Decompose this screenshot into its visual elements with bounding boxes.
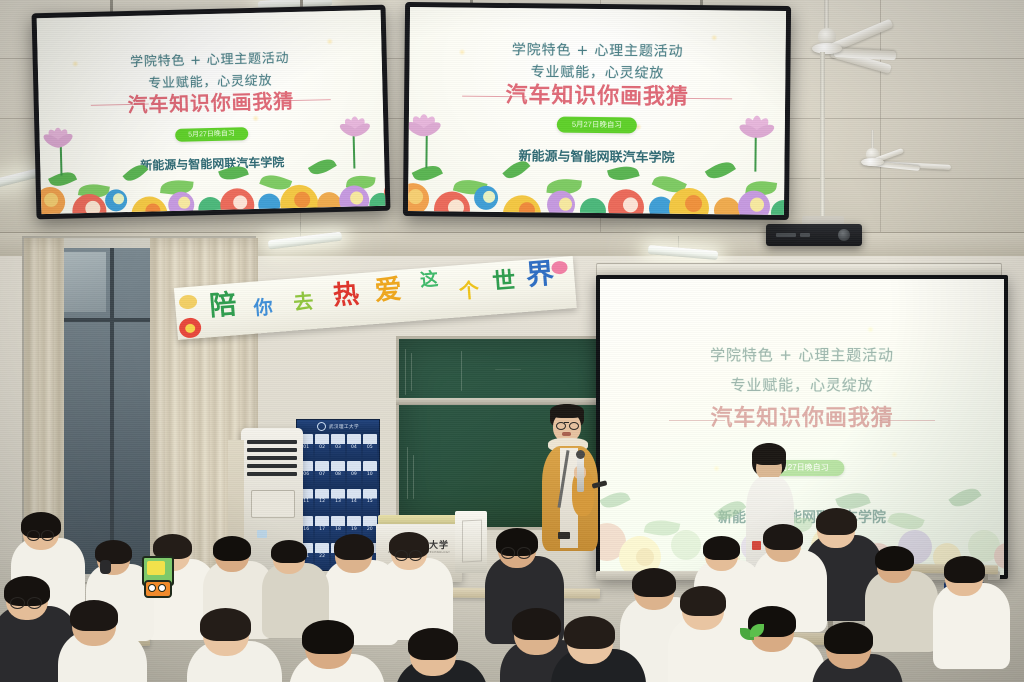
banner-character: 去 <box>293 291 315 313</box>
pocket-slot-number: 17 <box>315 527 329 532</box>
banner-character: 你 <box>253 298 273 318</box>
banner-character: 热 <box>332 281 360 309</box>
pocket-slot-number: 14 <box>347 499 361 504</box>
audience-member <box>940 556 1003 664</box>
pocket-slot[interactable]: 15 <box>363 489 377 515</box>
pocket-slot-number: 07 <box>315 472 329 477</box>
pocket-slot[interactable]: 03 <box>331 434 345 460</box>
graphic-tshirt-print <box>140 556 172 596</box>
pocket-slot[interactable]: 17 <box>315 516 329 542</box>
audience-hair <box>200 608 251 641</box>
banner-character: 陪 <box>208 291 237 320</box>
podium-side-detail <box>462 519 482 562</box>
microphone <box>577 454 584 492</box>
pocket-slot-number: 18 <box>331 527 345 532</box>
pocket-slot-number: 20 <box>363 527 377 532</box>
audience-member <box>66 600 139 682</box>
pocket-slot-number: 02 <box>315 445 329 450</box>
audience-member <box>298 620 376 682</box>
banner-flower-corner <box>176 316 204 342</box>
pocket-slot-number: 13 <box>331 499 345 504</box>
tv-right[interactable]: 学院特色 + 心理主题活动 专业赋能，心灵绽放 汽车知识你画我猜 5月27日晚自… <box>403 2 791 220</box>
audience-hair <box>680 586 726 616</box>
audience-glasses <box>10 597 25 609</box>
audience-member <box>820 622 894 682</box>
slide-line2: 专业赋能，心灵绽放 <box>600 374 1004 395</box>
pocket-slot[interactable]: 08 <box>331 461 345 487</box>
audience-glasses <box>501 547 515 558</box>
audience-hair <box>302 620 354 654</box>
audience-hair <box>703 536 740 560</box>
leaf-tshirt-print <box>740 624 766 646</box>
audience-hair <box>632 568 676 597</box>
pocket-slot[interactable]: 02 <box>315 434 329 460</box>
pocket-slot[interactable]: 04 <box>347 434 361 460</box>
audience-hair <box>70 600 118 631</box>
banner-character: 世 <box>492 269 517 294</box>
classroom-scene: 学院特色 + 心理主题活动 专业赋能，心灵绽放 汽车知识你画我猜 5月27日晚自… <box>0 0 1024 682</box>
slide-line1: 学院特色 + 心理主题活动 <box>410 38 786 62</box>
pocket-slot[interactable]: 12 <box>315 489 329 515</box>
pocket-slot[interactable]: 05 <box>363 434 377 460</box>
university-logo-icon <box>317 422 326 431</box>
audience-glasses <box>27 530 40 541</box>
flower-garden <box>37 115 386 214</box>
slide-line1: 学院特色 + 心理主题活动 <box>600 344 1004 365</box>
audience-member <box>196 608 273 682</box>
pocket-slot-number: 03 <box>331 445 345 450</box>
audience-hair <box>271 540 307 563</box>
audience-hair <box>763 524 803 550</box>
audience-hair <box>408 628 458 660</box>
pocket-slot[interactable]: 14 <box>347 489 361 515</box>
pocket-slot[interactable]: 07 <box>315 461 329 487</box>
slide-right: 学院特色 + 心理主题活动 专业赋能，心灵绽放 汽车知识你画我猜 5月27日晚自… <box>408 7 786 215</box>
audience-glasses <box>395 550 408 561</box>
banner-character: 爱 <box>374 276 403 305</box>
slide-title: 汽车知识你画我猜 <box>409 76 785 112</box>
pocket-slot-number: 05 <box>363 445 377 450</box>
headphones <box>100 556 124 576</box>
audience-member <box>404 628 480 682</box>
pocket-slot[interactable]: 10 <box>363 461 377 487</box>
banner-character: 界 <box>525 260 555 290</box>
pocket-slot-number: 08 <box>331 472 345 477</box>
audience-hair <box>816 508 857 535</box>
audience-hair <box>564 616 615 649</box>
flower-garden <box>408 117 786 215</box>
audience-torso <box>933 583 1010 669</box>
audience-hair <box>875 546 914 571</box>
pocket-slot-number: 15 <box>363 499 377 504</box>
pocket-slot-number: 12 <box>315 499 329 504</box>
audience-hair <box>213 536 251 561</box>
slide-left: 学院特色 + 心理主题活动 专业赋能，心灵绽放 汽车知识你画我猜 5月27日晚自… <box>37 10 386 214</box>
audience-hair <box>944 556 985 583</box>
audience-member <box>560 616 637 682</box>
audience-hair <box>824 622 873 654</box>
pocket-slot-number: 10 <box>363 472 377 477</box>
pocket-chart-header: 武汉理工大学 <box>297 420 379 433</box>
audience-hair <box>512 608 561 640</box>
pocket-slot-number: 04 <box>347 445 361 450</box>
pocket-slot[interactable]: 09 <box>347 461 361 487</box>
pocket-slot-number: 19 <box>347 527 361 532</box>
banner-flower-left <box>179 294 198 311</box>
pocket-slot-number: 09 <box>347 472 361 477</box>
audience-hair <box>334 534 374 560</box>
pocket-chart-header-text: 武汉理工大学 <box>329 424 359 430</box>
tv-left[interactable]: 学院特色 + 心理主题活动 专业赋能，心灵绽放 汽车知识你画我猜 5月27日晚自… <box>32 5 391 220</box>
pocket-slot[interactable]: 13 <box>331 489 345 515</box>
banner-character: 这 <box>419 271 438 290</box>
banner-character: 个 <box>458 280 480 302</box>
